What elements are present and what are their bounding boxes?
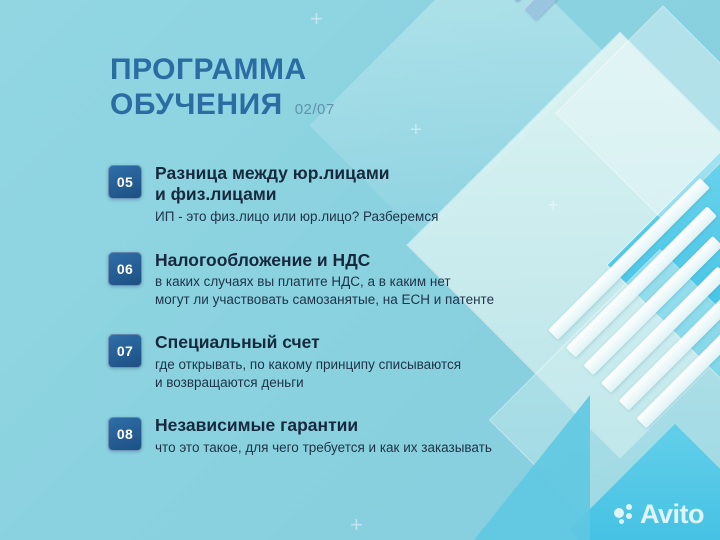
item-number-badge: 07: [108, 334, 142, 368]
program-item: 07Специальный счетгде открывать, по како…: [108, 332, 608, 391]
item-subtitle: где открывать, по какому принципу списыв…: [155, 356, 608, 392]
item-body: Независимые гарантиичто это такое, для ч…: [155, 415, 608, 456]
slide-counter: 02/07: [295, 101, 335, 118]
plus-mark-icon: +: [350, 514, 363, 536]
item-title: Разница между юр.лицами и физ.лицами: [155, 163, 608, 206]
item-title: Независимые гарантии: [155, 415, 608, 436]
program-item: 05Разница между юр.лицами и физ.лицамиИП…: [108, 163, 608, 226]
item-subtitle: ИП - это физ.лицо или юр.лицо? Разберемс…: [155, 208, 608, 226]
plus-mark-icon: +: [410, 120, 422, 140]
program-item: 06Налогообложение и НДСв каких случаях в…: [108, 250, 608, 309]
item-number-badge: 06: [108, 252, 142, 286]
blue-stripe-bar: [524, 0, 720, 21]
white-stripe-bar: [619, 297, 720, 410]
avito-dots-icon: [614, 504, 635, 525]
page-title-row2: ОБУЧЕНИЯ 02/07: [110, 87, 335, 122]
program-items-list: 05Разница между юр.лицами и физ.лицамиИП…: [108, 163, 608, 481]
white-stripe-bar: [601, 266, 720, 393]
avito-wordmark: Avito: [640, 501, 704, 528]
avito-watermark: Avito: [614, 501, 704, 528]
white-stripe-bar: [636, 329, 720, 428]
slide-canvas: ++++ ПРОГРАММА ОБУЧЕНИЯ 02/07 05Разница …: [0, 0, 720, 540]
item-number-badge: 08: [108, 417, 142, 451]
item-number-badge: 05: [108, 165, 142, 199]
page-title-line1: ПРОГРАММА: [110, 52, 335, 87]
item-title: Специальный счет: [155, 332, 608, 353]
page-header: ПРОГРАММА ОБУЧЕНИЯ 02/07: [110, 52, 335, 123]
blue-stripe-bar: [505, 0, 720, 2]
plus-mark-icon: +: [310, 8, 323, 30]
item-title: Налогообложение и НДС: [155, 250, 608, 271]
page-title-line2: ОБУЧЕНИЯ: [110, 87, 283, 122]
item-subtitle: в каких случаях вы платите НДС, а в каки…: [155, 273, 608, 309]
item-body: Разница между юр.лицами и физ.лицамиИП -…: [155, 163, 608, 226]
item-subtitle: что это такое, для чего требуется и как …: [155, 439, 608, 457]
item-body: Налогообложение и НДСв каких случаях вы …: [155, 250, 608, 309]
cyan-diamond-panel-1: [608, 138, 720, 393]
item-body: Специальный счетгде открывать, по какому…: [155, 332, 608, 391]
blue-stripe-bundle: [395, 0, 720, 92]
program-item: 08Независимые гарантиичто это такое, для…: [108, 415, 608, 456]
